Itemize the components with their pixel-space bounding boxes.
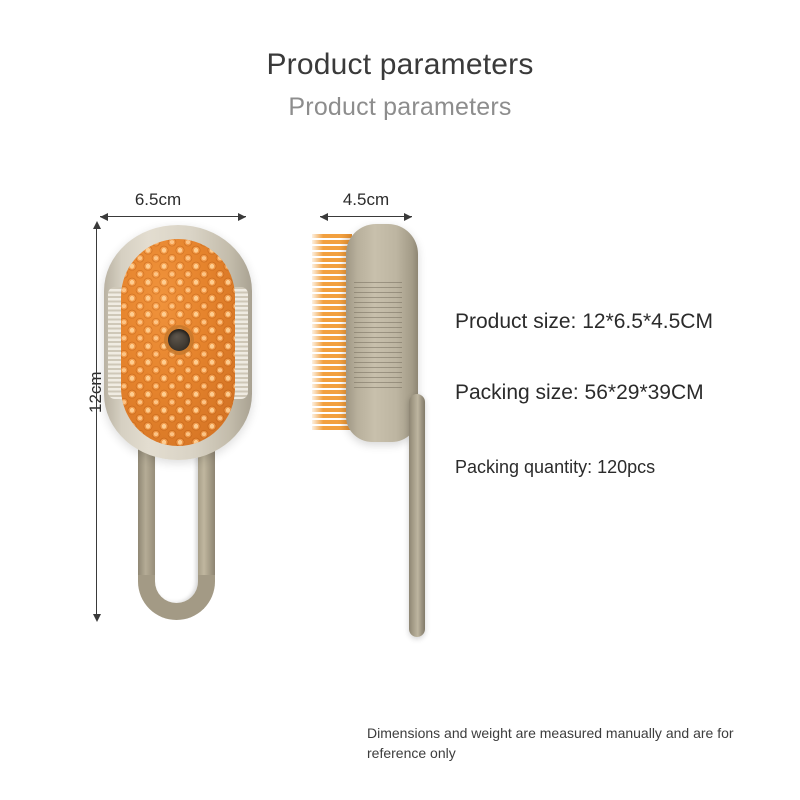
page-title: Product parameters	[0, 48, 800, 82]
product-front-view-image	[104, 225, 252, 620]
arrow-up-icon	[93, 221, 101, 229]
arrow-left-icon	[320, 213, 328, 221]
product-side-view-image	[312, 224, 452, 644]
dimension-line-side-width	[320, 216, 412, 217]
page-subtitle: Product parameters	[0, 93, 800, 122]
comb-teeth-right	[234, 287, 248, 399]
arrow-down-icon	[93, 614, 101, 622]
spec-packing-quantity: Packing quantity: 120pcs	[455, 457, 655, 478]
spec-packing-size: Packing size: 56*29*39CM	[455, 381, 704, 405]
comb-teeth-left	[108, 287, 122, 399]
footer-disclaimer: Dimensions and weight are measured manua…	[367, 723, 779, 763]
arrow-left-icon	[100, 213, 108, 221]
product-head-shell	[104, 225, 252, 460]
dimension-label-side-width: 4.5cm	[343, 190, 389, 210]
dimension-label-front-width: 6.5cm	[135, 190, 181, 210]
dimension-line-front-width	[100, 216, 246, 217]
center-steam-hole	[168, 329, 190, 351]
product-body-side	[346, 224, 418, 442]
body-groove-lines	[354, 282, 402, 392]
dimension-line-front-height	[96, 228, 97, 616]
arrow-right-icon	[404, 213, 412, 221]
spec-product-size: Product size: 12*6.5*4.5CM	[455, 310, 713, 334]
arrow-right-icon	[238, 213, 246, 221]
product-handle-side	[409, 394, 425, 637]
